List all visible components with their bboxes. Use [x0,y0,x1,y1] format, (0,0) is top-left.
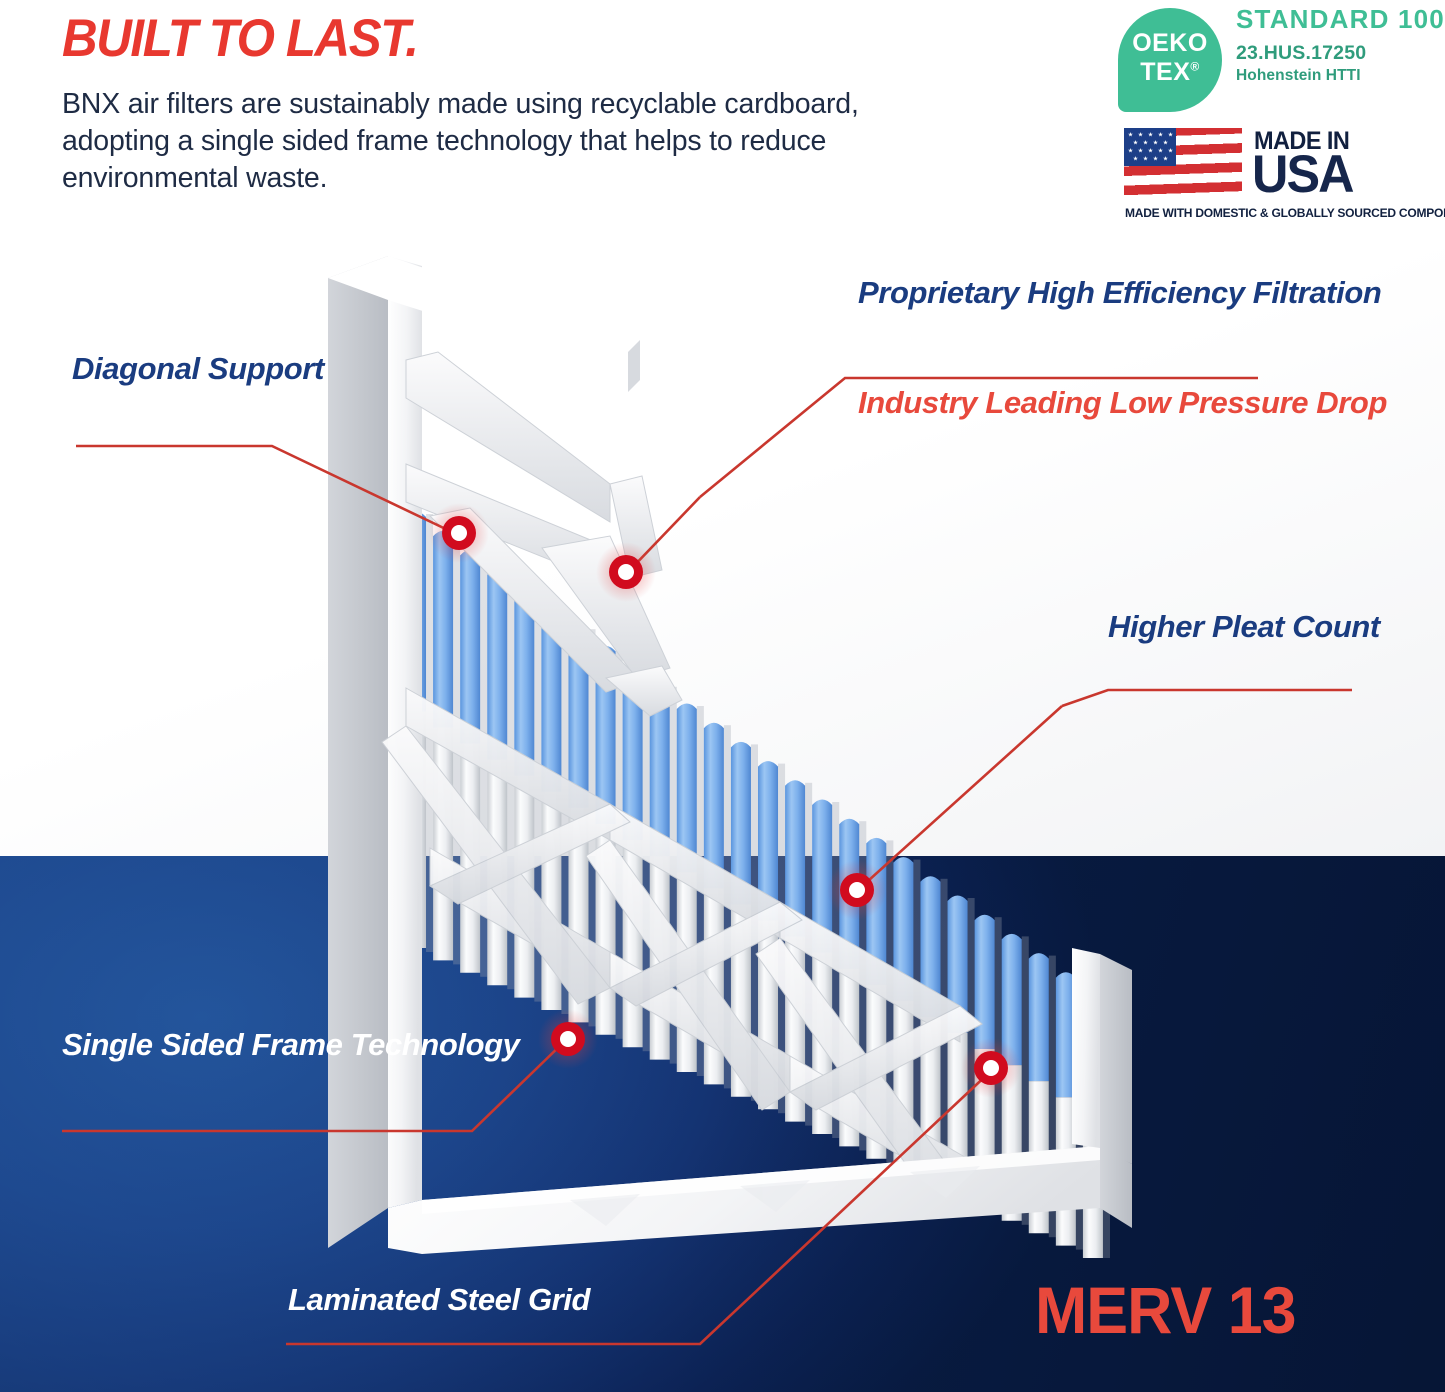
oeko-tex-droplet-icon: OEKO TEX® [1118,8,1222,112]
us-flag-icon [1124,128,1242,196]
headline: BUILT TO LAST. [62,8,418,69]
oeko-standard-label: STANDARD 100 [1236,6,1445,33]
oeko-certificate-number: 23.HUS.17250 [1236,42,1445,65]
pleat-blue [460,550,480,744]
pleat-blue [1002,934,1022,1065]
merv-rating-badge: MERV 13 [1035,1272,1296,1348]
callout-low-pressure-drop: Industry Leading Low Pressure Drop [858,386,1387,421]
oeko-tex-badge: OEKO TEX® STANDARD 100 23.HUS.17250 Hohe… [1118,6,1445,118]
callout-diagonal-support: Diagonal Support [72,352,324,387]
usa-disclaimer: MADE WITH DOMESTIC & GLOBALLY SOURCED CO… [1125,206,1445,220]
body-paragraph: BNX air filters are sustainably made usi… [62,86,892,197]
usa-label: USA [1252,148,1353,201]
pleat-blue [433,531,453,728]
pleat-blue [1029,953,1049,1081]
infographic-canvas: BUILT TO LAST. BNX air filters are susta… [0,0,1445,1392]
oeko-brand-line-1: OEKO [1118,29,1222,58]
made-in-usa-badge: MADE IN USA MADE WITH DOMESTIC & GLOBALL… [1124,126,1445,222]
oeko-institute: Hohenstein HTTI [1236,67,1445,85]
oeko-brand-line-2: TEX® [1118,58,1222,87]
frame-right-cap [1072,948,1132,1164]
pleat-blue [975,915,995,1049]
frame-bottom-rail [388,1146,1132,1254]
pleat-blue [487,569,507,760]
callout-single-sided-frame: Single Sided Frame Technology [62,1028,520,1063]
oeko-text-block: STANDARD 100 23.HUS.17250 Hohenstein HTT… [1236,6,1445,85]
callout-high-efficiency: Proprietary High Efficiency Filtration [858,276,1381,311]
pleat-white [433,728,453,961]
callout-laminated-steel-grid: Laminated Steel Grid [288,1283,590,1318]
callout-higher-pleat-count: Higher Pleat Count [1108,610,1380,645]
